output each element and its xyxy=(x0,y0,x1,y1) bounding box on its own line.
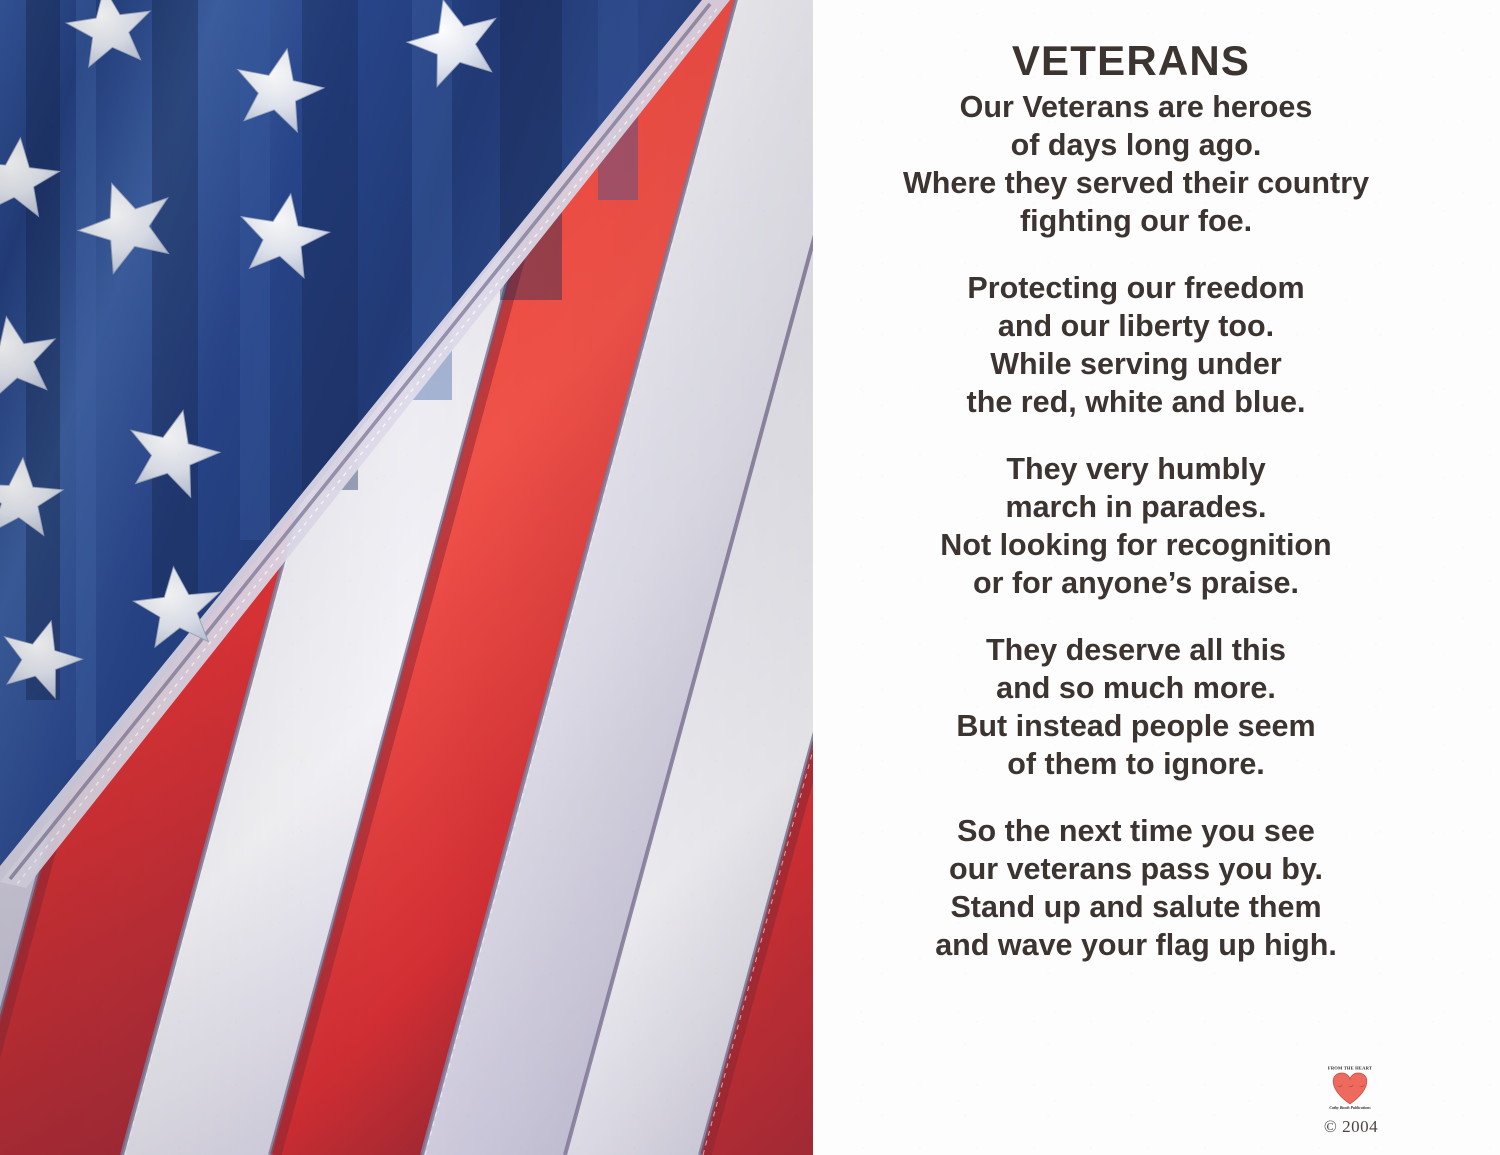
poem-line: or for anyone’s praise. xyxy=(816,564,1456,602)
poem-stanza: So the next time you see our veterans pa… xyxy=(816,812,1456,964)
logo-bottom-text: Cathy Booth Publications xyxy=(1329,1106,1371,1110)
poem-stanza: They deserve all this and so much more. … xyxy=(816,631,1456,783)
poem-line: Our Veterans are heroes xyxy=(816,88,1456,126)
american-flag-illustration xyxy=(0,0,813,1155)
poem-line: of days long ago. xyxy=(816,126,1456,164)
author-signature: By Cathy Booth xyxy=(816,1021,1500,1053)
poem-stanza: They very humbly march in parades. Not l… xyxy=(816,450,1456,602)
poem-line: Not looking for recognition xyxy=(816,526,1456,564)
from-the-heart-logo-icon: FROM THE HEART Cathy Booth Publications xyxy=(1320,1062,1380,1112)
poem-line: So the next time you see xyxy=(816,812,1456,850)
poem-line: They deserve all this xyxy=(816,631,1456,669)
logo-top-text: FROM THE HEART xyxy=(1328,1066,1372,1071)
poem-page: VETERANS Our Veterans are heroes of days… xyxy=(0,0,1500,1155)
poem-body: Our Veterans are heroes of days long ago… xyxy=(816,88,1456,993)
poem-column: VETERANS Our Veterans are heroes of days… xyxy=(816,0,1500,1155)
poem-line: While serving under xyxy=(816,345,1456,383)
poem-line: and so much more. xyxy=(816,669,1456,707)
poem-line: Where they served their country xyxy=(816,164,1456,202)
page-title: VETERANS xyxy=(816,37,1446,85)
poem-line: and our liberty too. xyxy=(816,307,1456,345)
poem-line: fighting our foe. xyxy=(816,202,1456,240)
heart-icon: FROM THE HEART Cathy Booth Publications xyxy=(1320,1062,1380,1112)
poem-line: Stand up and salute them xyxy=(816,888,1456,926)
poem-line: the red, white and blue. xyxy=(816,383,1456,421)
copyright-notice: © 2004 xyxy=(1256,1117,1446,1137)
poem-line: But instead people seem xyxy=(816,707,1456,745)
american-flag-photo xyxy=(0,0,813,1155)
poem-line: of them to ignore. xyxy=(816,745,1456,783)
poem-line: march in parades. xyxy=(816,488,1456,526)
poem-line: They very humbly xyxy=(816,450,1456,488)
poem-line: our veterans pass you by. xyxy=(816,850,1456,888)
poem-line: and wave your flag up high. xyxy=(816,926,1456,964)
poem-stanza: Protecting our freedom and our liberty t… xyxy=(816,269,1456,421)
poem-stanza: Our Veterans are heroes of days long ago… xyxy=(816,88,1456,240)
poem-line: Protecting our freedom xyxy=(816,269,1456,307)
